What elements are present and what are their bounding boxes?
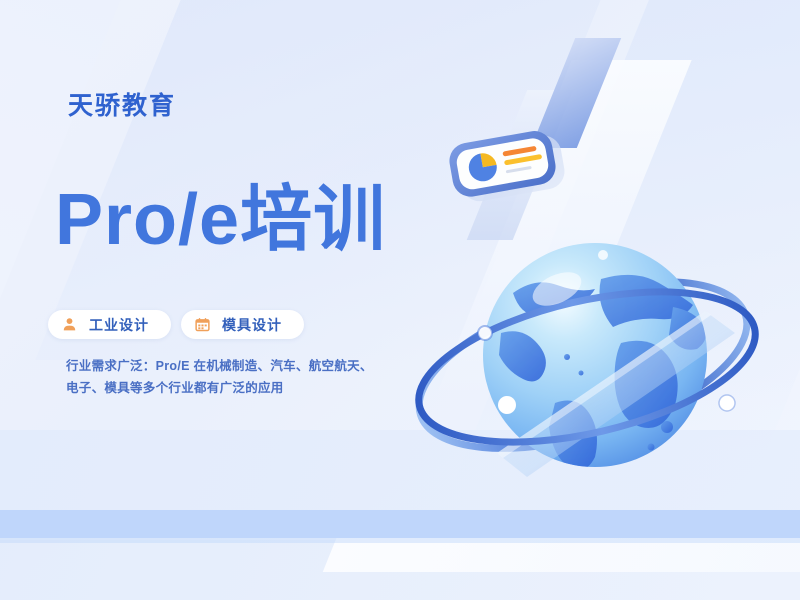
tag-label: 模具设计 [222,315,282,335]
page-title: Pro/e培训 [55,184,386,256]
brand-name: 天骄教育 [68,86,176,122]
user-icon [62,317,77,332]
text-content: 天骄教育 Pro/e培训 工业设计 [0,0,470,600]
description-text: 行业需求广泛：Pro/E 在机械制造、汽车、航空航天、电子、模具等多个行业都有广… [66,356,378,400]
tag-label: 工业设计 [89,315,149,335]
tag-industrial-design[interactable]: 工业设计 [48,310,171,339]
tag-list: 工业设计 模具设计 [48,310,304,339]
calendar-icon [195,317,210,332]
promotional-banner: 天骄教育 Pro/e培训 工业设计 [0,0,800,600]
tag-mold-design[interactable]: 模具设计 [181,310,304,339]
